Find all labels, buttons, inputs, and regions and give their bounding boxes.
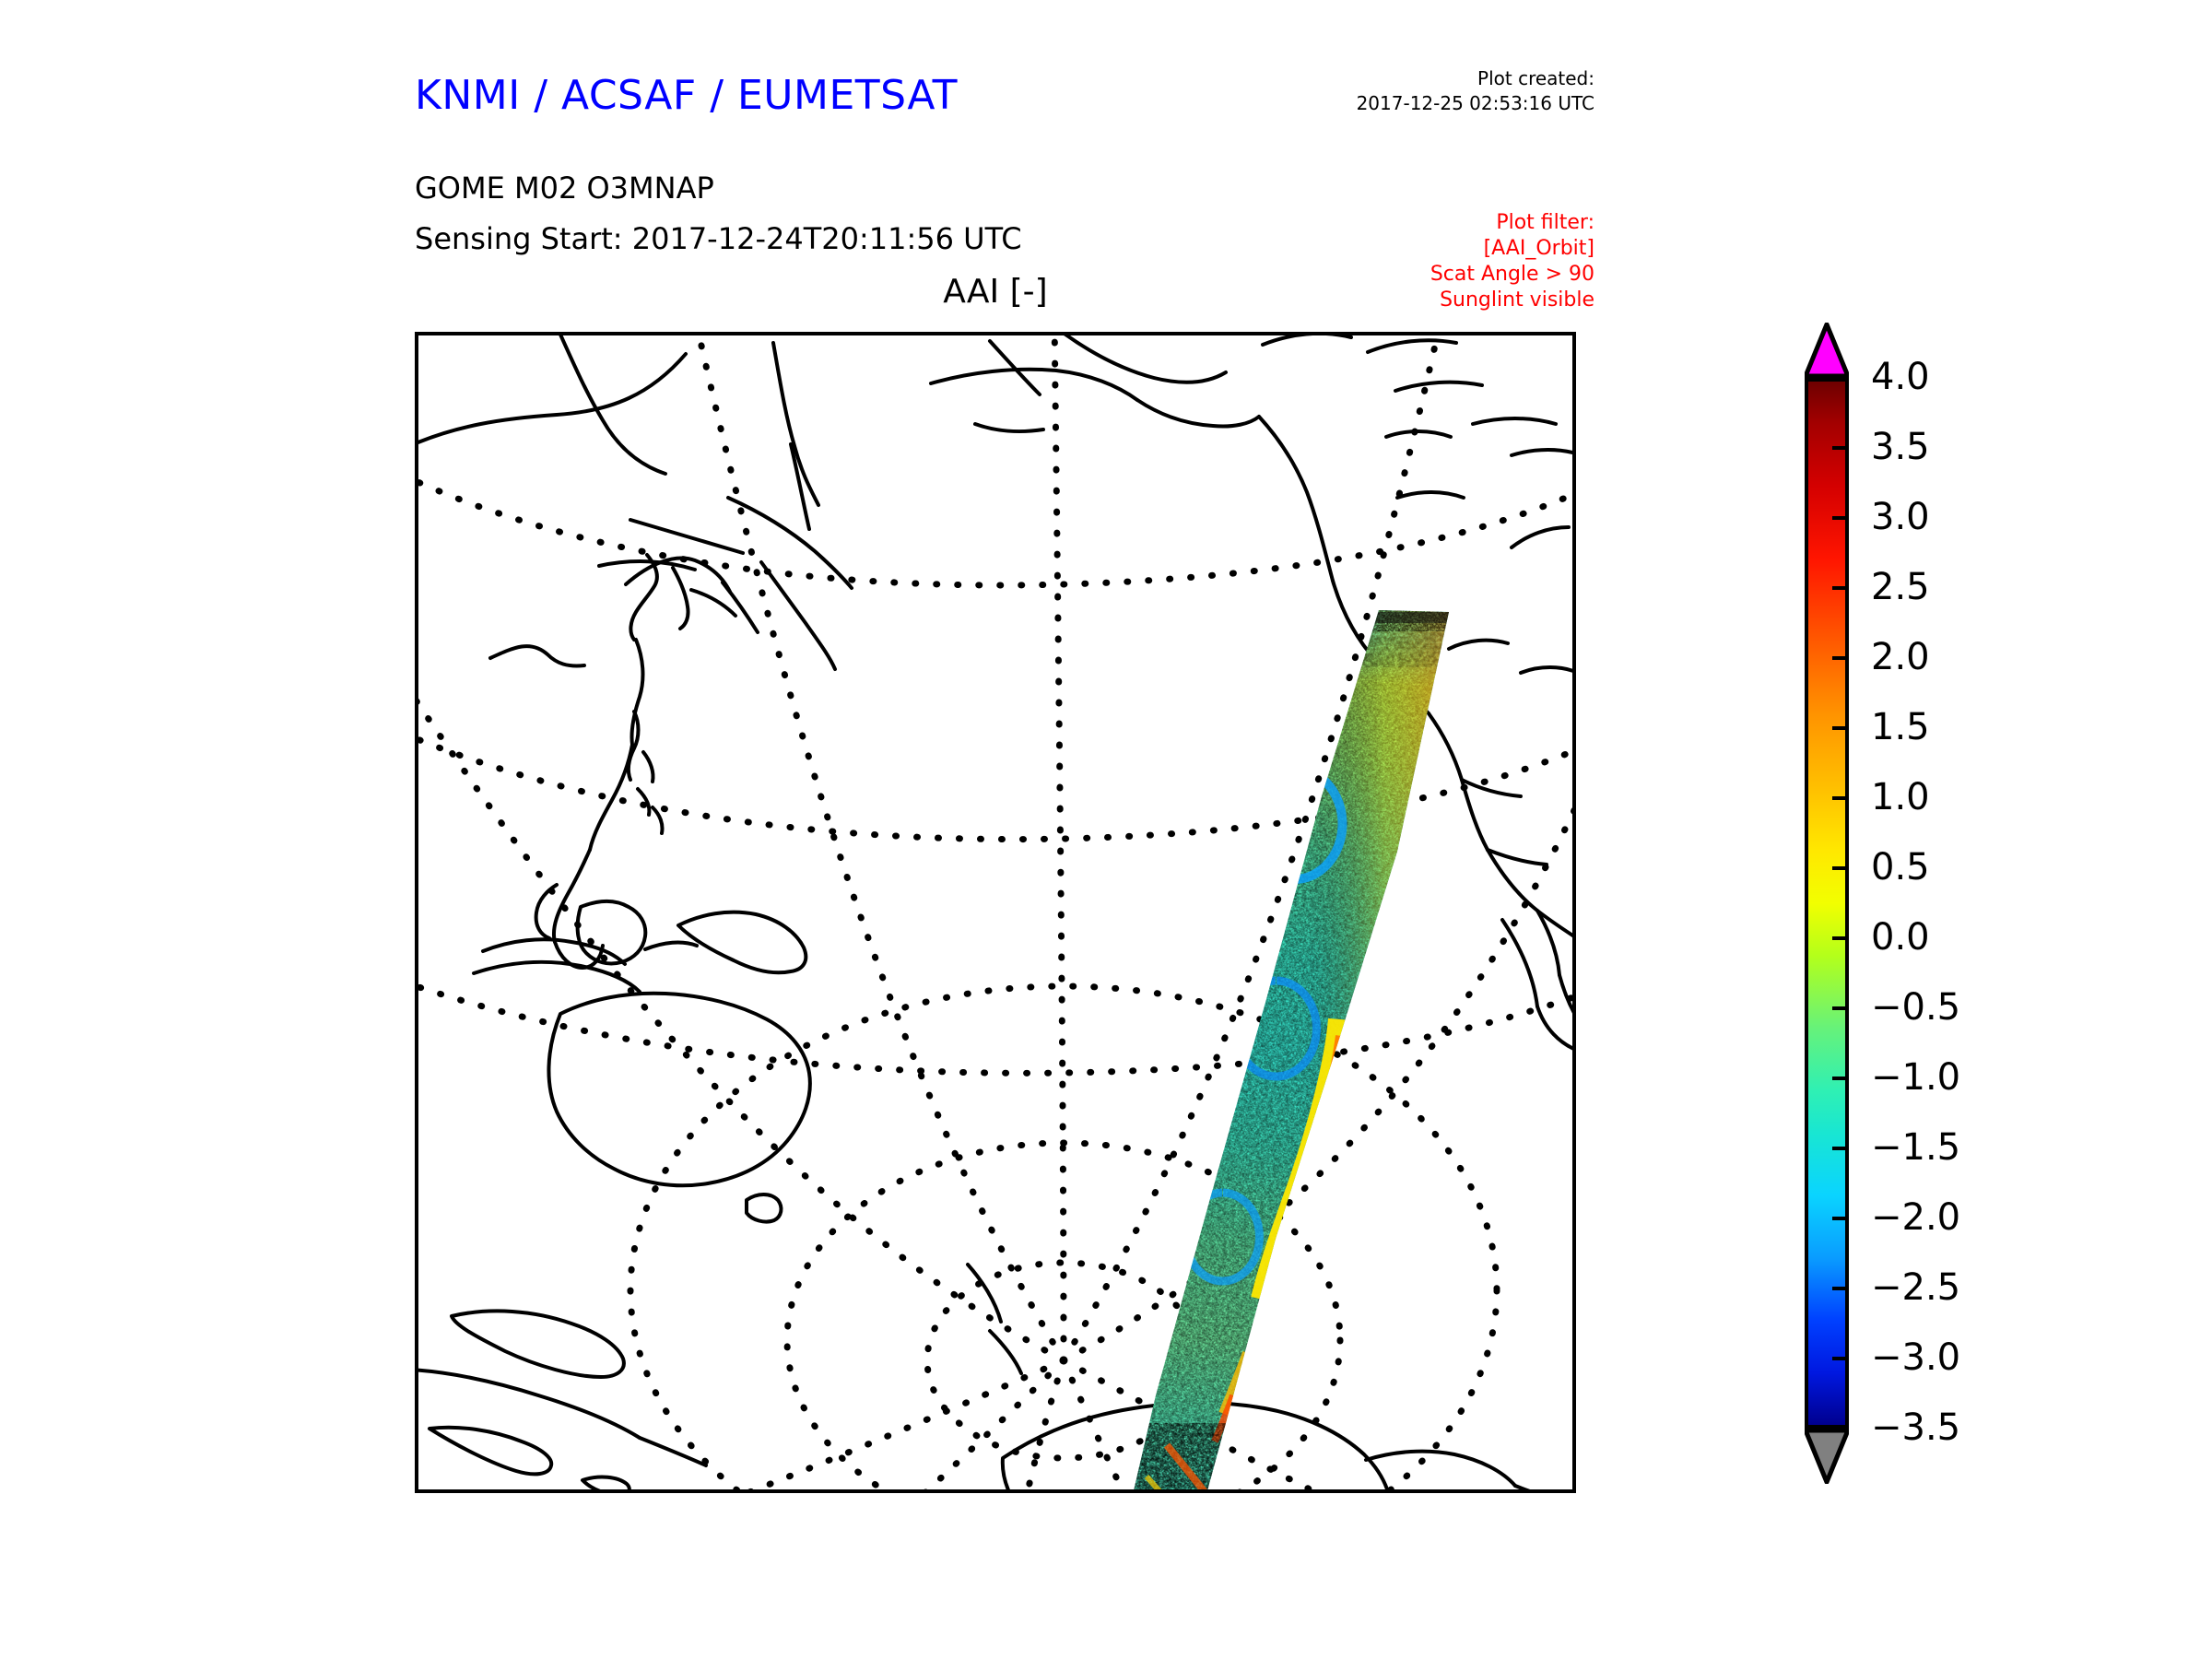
colorbar-tick-label: −1.5: [1871, 1129, 1960, 1166]
colorbar-tick: [1832, 586, 1849, 590]
colorbar-under-arrow: [1805, 1429, 1849, 1484]
colorbar[interactable]: 4.03.53.02.52.01.51.00.50.0−0.5−1.0−1.5−…: [1797, 324, 2184, 1513]
colorbar-tick: [1832, 796, 1849, 800]
colorbar-tick-label: 3.0: [1871, 499, 1930, 535]
plot-created-label: Plot created:: [1318, 66, 1594, 91]
colorbar-tick: [1832, 1287, 1849, 1290]
plot-filter-name: [AAI_Orbit]: [1272, 236, 1594, 262]
colorbar-tick-label: −2.0: [1871, 1199, 1960, 1236]
map-title: AAI [-]: [415, 273, 1576, 311]
colorbar-tick-label: −2.5: [1871, 1269, 1960, 1306]
colorbar-tick-label: 4.0: [1871, 359, 1930, 395]
colorbar-tick: [1832, 516, 1849, 520]
sensing-start: Sensing Start: 2017-12-24T20:11:56 UTC: [415, 221, 1022, 256]
colorbar-tick: [1832, 866, 1849, 870]
colorbar-tick-label: 3.5: [1871, 429, 1930, 465]
colorbar-tick-label: −3.5: [1871, 1409, 1960, 1446]
colorbar-body[interactable]: [1805, 378, 1849, 1429]
organisation-title: KNMI / ACSAF / EUMETSAT: [415, 72, 958, 119]
colorbar-tick-label: 0.0: [1871, 919, 1930, 956]
colorbar-tick: [1832, 1147, 1849, 1150]
map-canvas: [418, 335, 1572, 1489]
colorbar-tick: [1832, 1217, 1849, 1220]
colorbar-tick: [1832, 656, 1849, 660]
colorbar-tick-label: −0.5: [1871, 989, 1960, 1026]
colorbar-tick-label: 0.5: [1871, 849, 1930, 886]
plot-created-block: Plot created: 2017-12-25 02:53:16 UTC: [1318, 66, 1594, 116]
coastlines: [418, 335, 1572, 1489]
colorbar-tick: [1832, 1357, 1849, 1360]
map-panel[interactable]: [415, 332, 1576, 1493]
aai-swath: [1064, 584, 1506, 1489]
colorbar-tick-label: 1.5: [1871, 709, 1930, 746]
colorbar-over-arrow: [1805, 323, 1849, 378]
plot-filter-label: Plot filter:: [1272, 210, 1594, 236]
map-contents: [418, 335, 1572, 1489]
graticule: [418, 335, 1572, 1489]
colorbar-tick: [1832, 1006, 1849, 1010]
colorbar-tick-label: −3.0: [1871, 1339, 1960, 1376]
colorbar-tick: [1832, 1077, 1849, 1080]
colorbar-tick: [1832, 936, 1849, 940]
colorbar-tick-label: −1.0: [1871, 1059, 1960, 1096]
colorbar-tick-label: 2.0: [1871, 639, 1930, 676]
product-name: GOME M02 O3MNAP: [415, 171, 714, 206]
colorbar-tick: [1832, 726, 1849, 730]
colorbar-tick: [1832, 446, 1849, 450]
colorbar-gradient: [1808, 382, 1845, 1425]
colorbar-tick-label: 1.0: [1871, 779, 1930, 816]
colorbar-tick-label: 2.5: [1871, 569, 1930, 606]
plot-created-value: 2017-12-25 02:53:16 UTC: [1318, 91, 1594, 116]
